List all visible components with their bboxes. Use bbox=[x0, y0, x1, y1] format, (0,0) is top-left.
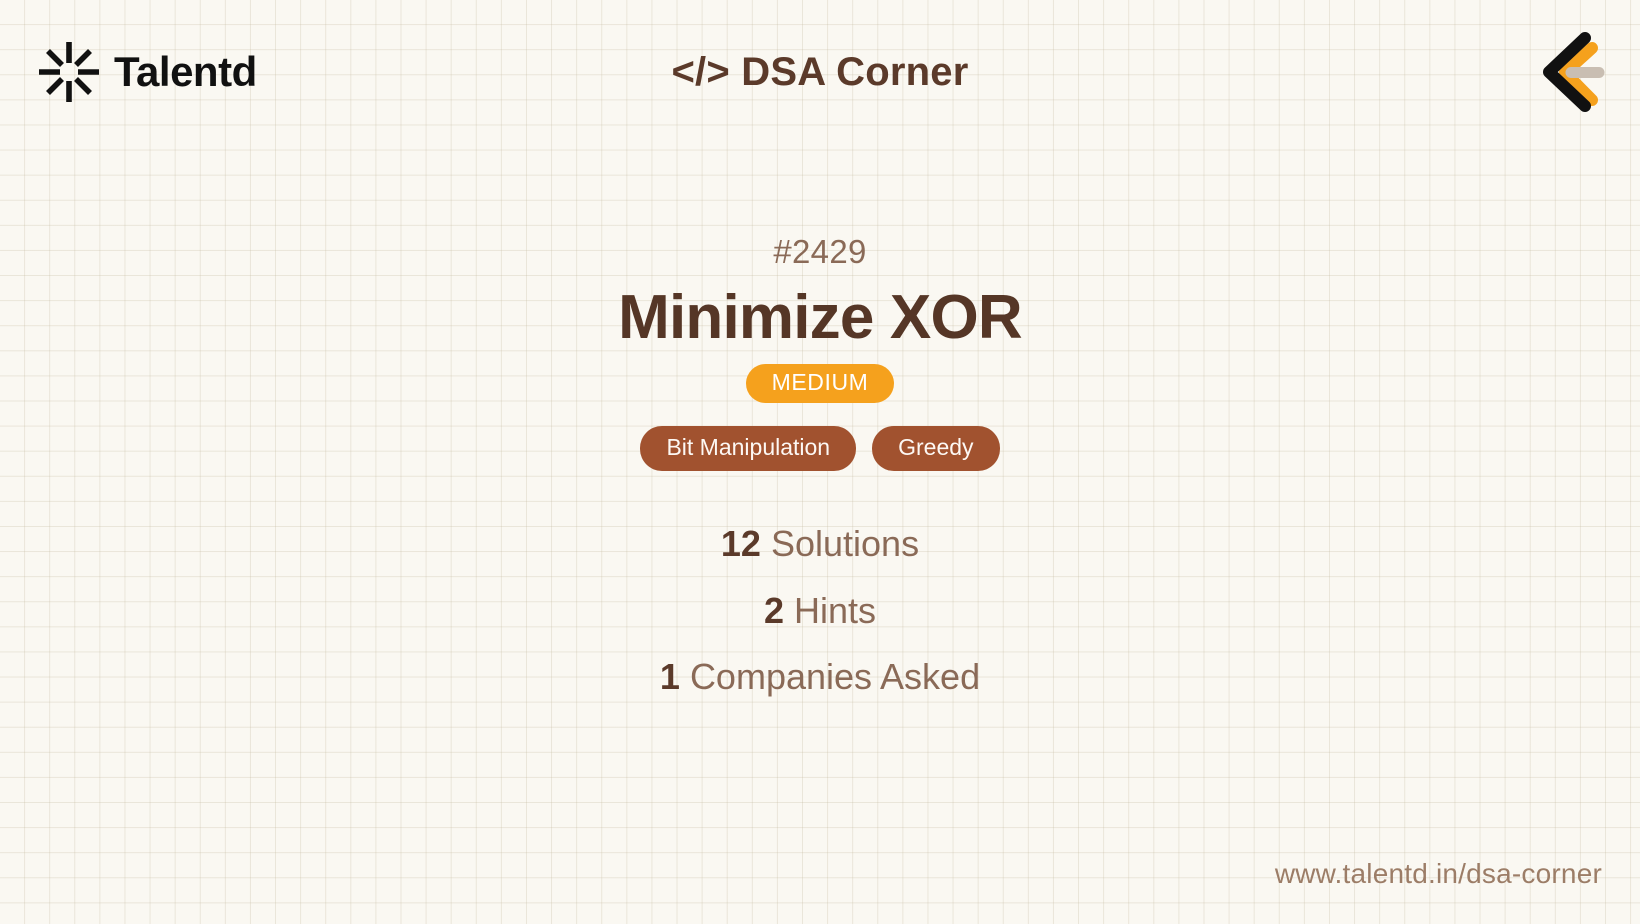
code-brackets-icon: </> bbox=[672, 50, 730, 94]
topic-tag[interactable]: Bit Manipulation bbox=[640, 426, 856, 471]
stat-row-hints: 2 Hints bbox=[660, 578, 980, 644]
topic-tag[interactable]: Greedy bbox=[872, 426, 999, 471]
problem-number: #2429 bbox=[773, 232, 866, 272]
problem-stats: 12 Solutions 2 Hints 1 Companies Asked bbox=[660, 511, 980, 710]
talentd-chevron-mark-icon bbox=[1522, 26, 1614, 118]
stat-row-solutions: 12 Solutions bbox=[660, 511, 980, 577]
problem-title: Minimize XOR bbox=[618, 284, 1022, 352]
stat-row-companies: 1 Companies Asked bbox=[660, 644, 980, 710]
stat-label: Hints bbox=[794, 590, 876, 631]
page-header: Talentd </> DSA Corner bbox=[0, 0, 1640, 152]
stat-label: Solutions bbox=[771, 523, 919, 564]
page-title-text: DSA Corner bbox=[741, 50, 968, 94]
stat-value: 2 bbox=[764, 590, 784, 631]
footer-url[interactable]: www.talentd.in/dsa-corner bbox=[1275, 857, 1602, 891]
problem-card: #2429 Minimize XOR MEDIUM Bit Manipulati… bbox=[0, 232, 1640, 710]
stat-value: 1 bbox=[660, 656, 680, 697]
difficulty-badge: MEDIUM bbox=[746, 364, 895, 403]
tags-row: Bit Manipulation Greedy bbox=[640, 426, 999, 471]
difficulty-row: MEDIUM bbox=[746, 364, 895, 403]
stat-label: Companies Asked bbox=[690, 656, 980, 697]
page-title: </> DSA Corner bbox=[0, 49, 1640, 95]
stat-value: 12 bbox=[721, 523, 761, 564]
